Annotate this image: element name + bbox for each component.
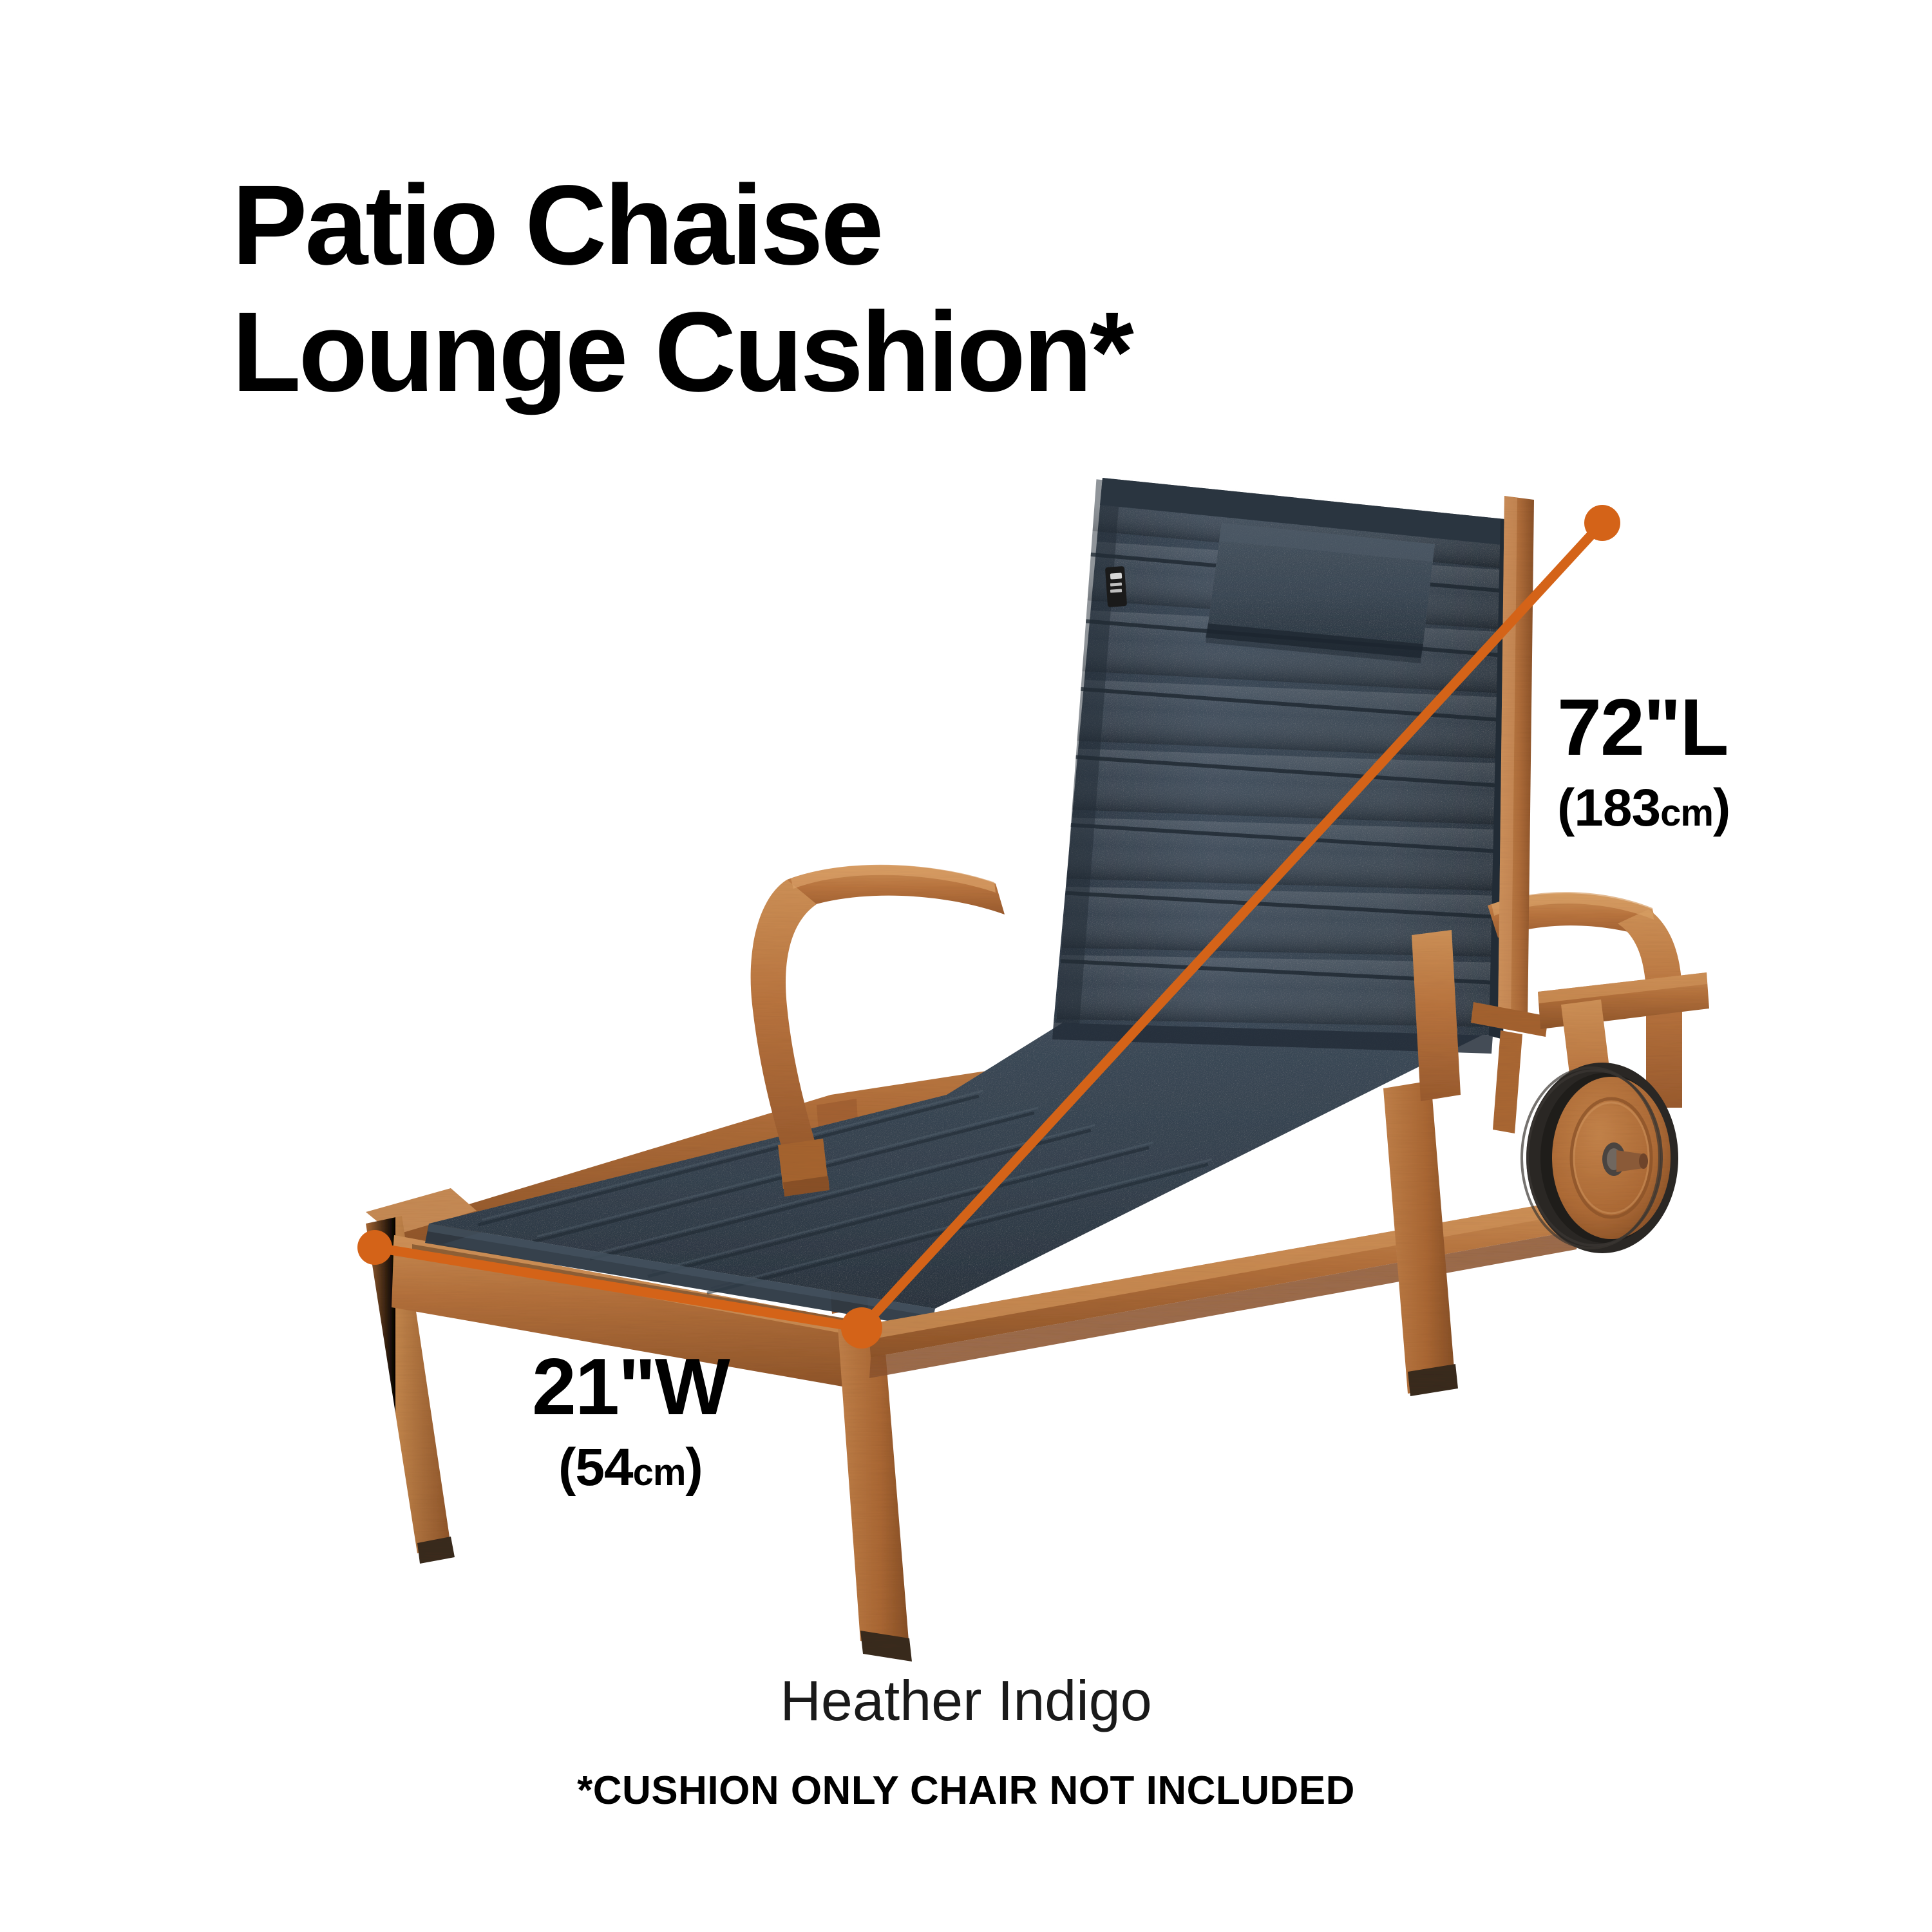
corner-junction-dot	[841, 1307, 882, 1349]
chaise-lounge-illustration	[0, 0, 1932, 1932]
length-metric-open: (183	[1557, 779, 1660, 837]
length-dimension-label: 72"L (183cm)	[1557, 688, 1730, 840]
product-image-canvas: Patio Chaise Lounge Cushion*	[0, 0, 1932, 1932]
color-name-caption: Heather Indigo	[0, 1668, 1932, 1734]
length-metric-value: (183cm)	[1557, 777, 1730, 840]
width-metric-value: (54cm)	[532, 1436, 729, 1499]
disclaimer-caption: *CUSHION ONLY CHAIR NOT INCLUDED	[0, 1768, 1932, 1814]
length-endpoint-dot-top	[1584, 505, 1620, 541]
length-metric-close: )	[1713, 779, 1730, 837]
chair-wheel	[1522, 1063, 1678, 1253]
width-metric-open: (54	[558, 1438, 633, 1497]
width-dimension-label: 21"W (54cm)	[532, 1347, 729, 1499]
brand-label-tag	[1105, 566, 1127, 607]
width-imperial-value: 21"W	[532, 1347, 729, 1427]
length-metric-unit: cm	[1660, 792, 1713, 834]
width-metric-close: )	[685, 1438, 702, 1497]
width-endpoint-dot-left	[357, 1230, 392, 1265]
headrest-pillow	[1206, 523, 1435, 663]
length-imperial-value: 72"L	[1557, 688, 1730, 768]
width-metric-unit: cm	[633, 1452, 686, 1493]
